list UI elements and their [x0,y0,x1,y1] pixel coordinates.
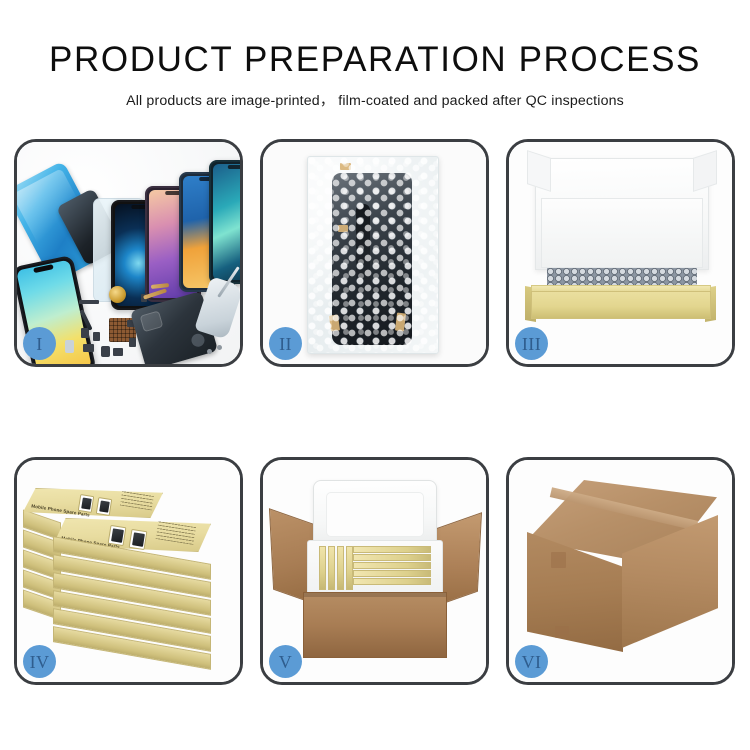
panel-sealed-carton[interactable]: VI [506,457,735,685]
panel-carton-with-styrofoam[interactable]: V [260,457,489,685]
component-icon [93,332,100,341]
yellow-box-icon [328,546,335,590]
yellow-box-icon [346,546,353,590]
carton-patch-icon [551,552,566,568]
panel-phone-parts[interactable]: I [14,139,243,367]
box-screen-print-icon [129,529,148,550]
page-title: PRODUCT PREPARATION PROCESS [0,42,750,79]
battery-icon [65,340,74,353]
yellow-box-icon [353,562,431,569]
screw-icon [207,349,212,354]
step-badge-3: III [515,327,548,360]
yellow-box-icon [353,546,431,553]
product-preparation-infographic: PRODUCT PREPARATION PROCESS All products… [0,0,750,750]
carton-front-panel-icon [303,592,447,658]
yellow-box-base-icon [531,291,711,319]
yellow-box-icon [319,546,326,590]
component-icon [79,300,99,304]
panel-open-yellow-box[interactable]: III [506,139,735,367]
phone-screen-4-icon [209,160,240,284]
speaker-coil-icon [109,286,126,303]
step-badge-6: VI [515,645,548,678]
yellow-box-icon [353,570,431,577]
screw-icon [217,345,222,350]
box-screen-print-icon [108,525,127,546]
panel-bubble-wrapped-screen[interactable]: II [260,139,489,367]
phone-notch-icon [228,165,240,169]
yellow-boxes-group [319,546,431,590]
process-grid: I II [14,139,736,692]
header: PRODUCT PREPARATION PROCESS All products… [0,0,750,110]
yellow-box-icon [337,546,344,590]
step-badge-1: I [23,327,56,360]
component-icon [113,348,123,356]
box-screen-print-icon [96,497,112,516]
panel-box-stack[interactable]: Mobile Phone Spare Parts Mobile Phone Sp… [14,457,243,685]
step-badge-2: II [269,327,302,360]
step-badge-4: IV [23,645,56,678]
page-subtitle: All products are image-printed， film-coa… [0,90,750,110]
component-icon [129,338,136,347]
step-badge-5: V [269,645,302,678]
bubble-wrap-bag-icon [307,156,439,354]
yellow-box-icon [353,554,431,561]
foam-liner-icon [541,198,703,268]
phone-notch-icon [131,205,146,209]
bubble-texture-overlay [308,157,438,353]
yellow-box-icon [353,578,431,585]
carton-patch-icon [555,626,569,638]
component-icon [101,346,110,357]
component-icon [83,344,94,352]
phone-screen-4-display [213,164,240,280]
box-screen-print-icon [78,494,94,513]
